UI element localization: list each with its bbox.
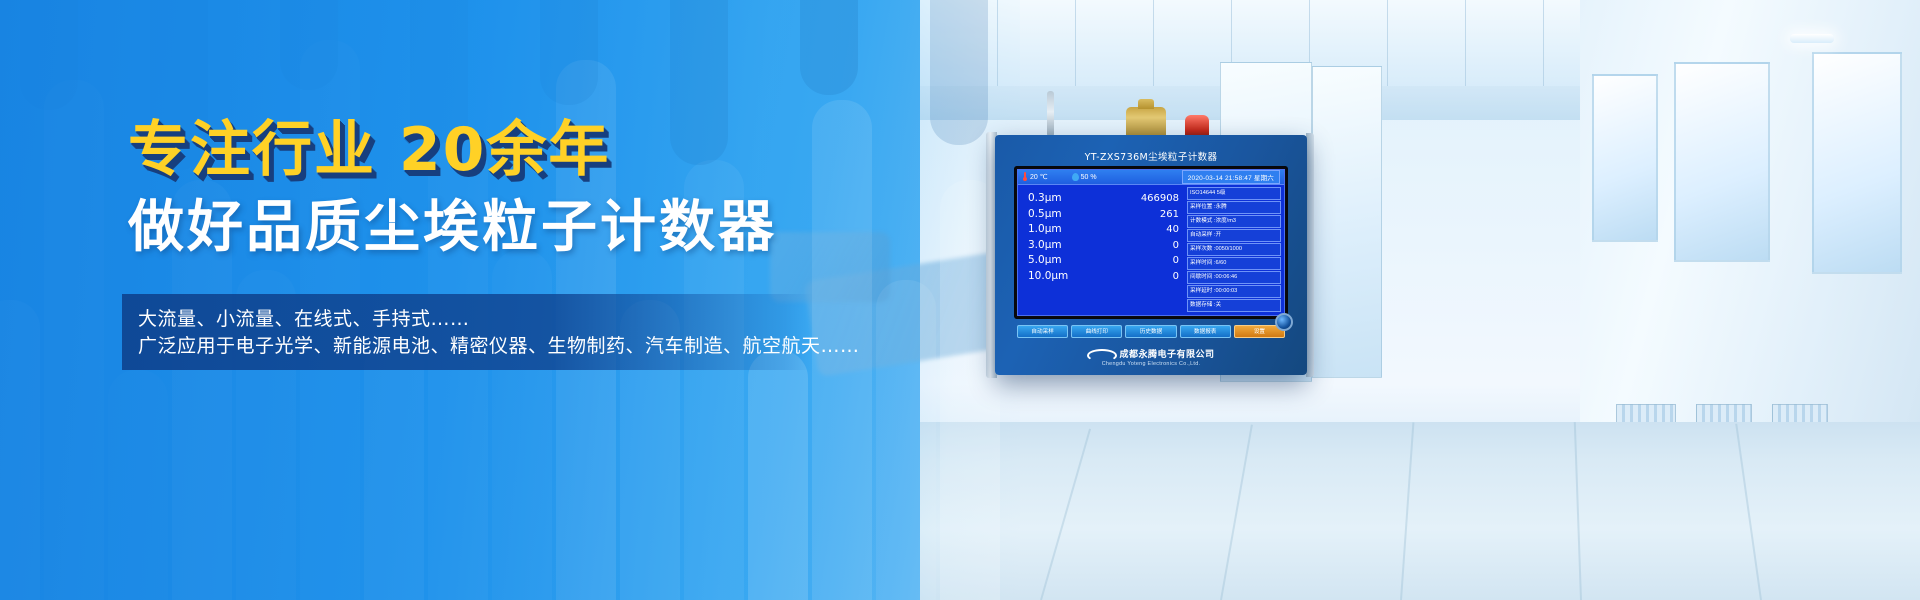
corridor-door-2 xyxy=(1312,66,1382,378)
headline-secondary: 做好品质尘埃粒子计数器 xyxy=(128,197,888,259)
yoteng-logo-icon xyxy=(1087,347,1113,360)
data-report-button[interactable]: 数据报表 xyxy=(1180,325,1231,338)
brand-name-cn: 成都永腾电子有限公司 xyxy=(1119,347,1214,360)
list-item: 采样次数 :0050/1000 xyxy=(1187,243,1281,256)
humidity-badge: 50 % xyxy=(1072,172,1097,182)
list-item: 采样延时 :00:00:03 xyxy=(1187,285,1281,298)
history-data-button[interactable]: 历史数据 xyxy=(1125,325,1176,338)
banner-root: 专注行业 20余年 做好品质尘埃粒子计数器 大流量、小流量、在线式、手持式…… … xyxy=(0,0,1920,600)
particle-count: 0 xyxy=(1173,269,1179,285)
ceiling-lamp xyxy=(1790,34,1834,43)
headline-primary: 专注行业 20余年 xyxy=(128,118,888,183)
lcd-screen-frame: 20 ℃ 50 % 2020-03-14 21:58:47 星期六 0.3μm xyxy=(1014,166,1288,319)
table-row: 3.0μm 0 xyxy=(1028,238,1179,254)
device-info-panel: ISO14644 5级 采样位置 :永腾 计数模式 :浓度/m3 自动采样 :开… xyxy=(1186,185,1284,315)
corridor-window-3 xyxy=(1812,52,1902,274)
auto-sample-button[interactable]: 自动采样 xyxy=(1017,325,1068,338)
list-item: 数据存储 :关 xyxy=(1187,299,1281,312)
alarm-light-icon xyxy=(1185,115,1209,137)
particle-size: 0.5μm xyxy=(1028,207,1062,223)
particle-size: 5.0μm xyxy=(1028,253,1062,269)
particle-counter-device: YT-ZXS736M尘埃粒子计数器 20 ℃ 50 % 2020-03-14 2… xyxy=(995,135,1307,375)
list-item: ISO14644 5级 xyxy=(1187,187,1281,200)
list-item: 采样时间 :6/60 xyxy=(1187,257,1281,270)
lcd-screen[interactable]: 20 ℃ 50 % 2020-03-14 21:58:47 星期六 0.3μm xyxy=(1017,169,1285,316)
particle-count: 0 xyxy=(1173,238,1179,254)
subtitle-band: 大流量、小流量、在线式、手持式…… 广泛应用于电子光学、新能源电池、精密仪器、生… xyxy=(122,294,812,370)
curve-print-button[interactable]: 曲线打印 xyxy=(1071,325,1122,338)
table-row: 0.5μm 261 xyxy=(1028,207,1179,223)
brand-row: 成都永腾电子有限公司 xyxy=(995,347,1307,360)
table-row: 1.0μm 40 xyxy=(1028,222,1179,238)
particle-size: 10.0μm xyxy=(1028,269,1068,285)
subtitle-line-1: 大流量、小流量、在线式、手持式…… xyxy=(138,306,812,333)
humidity-value: 50 % xyxy=(1081,174,1097,181)
device-model-label: YT-ZXS736M尘埃粒子计数器 xyxy=(995,149,1307,163)
table-row: 10.0μm 0 xyxy=(1028,269,1179,285)
particle-size: 1.0μm xyxy=(1028,222,1062,238)
device-body: YT-ZXS736M尘埃粒子计数器 20 ℃ 50 % 2020-03-14 2… xyxy=(995,135,1307,375)
lcd-status-bar: 20 ℃ 50 % 2020-03-14 21:58:47 星期六 xyxy=(1018,170,1284,185)
particle-size: 3.0μm xyxy=(1028,238,1062,254)
datetime-display: 2020-03-14 21:58:47 星期六 xyxy=(1182,170,1280,184)
device-right-bezel xyxy=(1306,133,1314,377)
headline-block: 专注行业 20余年 做好品质尘埃粒子计数器 xyxy=(128,118,888,258)
particle-count: 40 xyxy=(1166,222,1179,238)
lcd-content: 0.3μm 466908 0.5μm 261 1.0μm 40 xyxy=(1018,185,1284,315)
table-row: 5.0μm 0 xyxy=(1028,253,1179,269)
table-row: 0.3μm 466908 xyxy=(1028,191,1179,207)
particle-count: 466908 xyxy=(1141,191,1179,207)
corridor-window-1 xyxy=(1592,74,1658,242)
temperature-value: 20 ℃ xyxy=(1030,173,1048,181)
power-button[interactable] xyxy=(1275,313,1293,331)
corridor-floor xyxy=(920,422,1920,600)
particle-count: 261 xyxy=(1160,207,1179,223)
list-item: 间歇时间 :00:06:46 xyxy=(1187,271,1281,284)
subtitle-line-2: 广泛应用于电子光学、新能源电池、精密仪器、生物制药、汽车制造、航空航天…… xyxy=(138,333,812,360)
temperature-badge: 20 ℃ xyxy=(1022,172,1048,182)
water-drop-icon xyxy=(1072,172,1079,182)
brand-name-en: Chengdu Yoteng Electronics Co.,Ltd. xyxy=(995,361,1307,367)
particle-readings-table: 0.3μm 466908 0.5μm 261 1.0μm 40 xyxy=(1018,185,1186,315)
list-item: 自动采样 :开 xyxy=(1187,229,1281,242)
antenna-icon xyxy=(1047,91,1054,137)
particle-count: 0 xyxy=(1173,253,1179,269)
sensor-probe-icon xyxy=(1126,107,1166,137)
thermometer-icon xyxy=(1022,172,1028,182)
lcd-button-bar: 自动采样 曲线打印 历史数据 数据报表 设置 xyxy=(1017,325,1285,338)
corridor-window-2 xyxy=(1674,62,1770,262)
list-item: 计数模式 :浓度/m3 xyxy=(1187,215,1281,228)
list-item: 采样位置 :永腾 xyxy=(1187,201,1281,214)
particle-size: 0.3μm xyxy=(1028,191,1062,207)
